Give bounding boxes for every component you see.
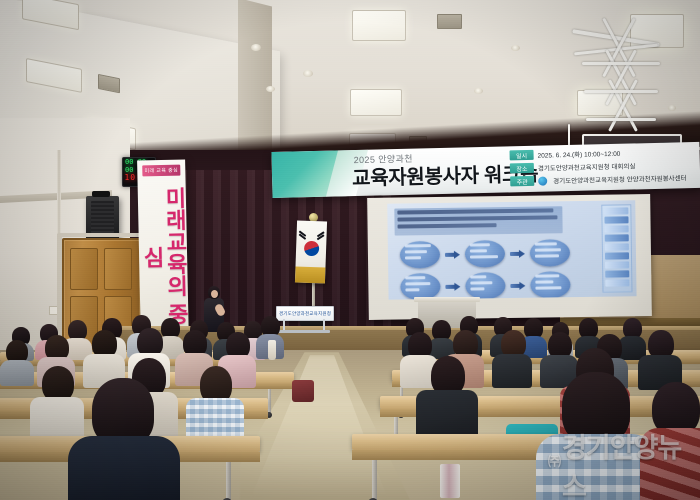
ceiling-downlight xyxy=(474,88,483,94)
ceiling-downlight xyxy=(303,70,313,77)
ceiling-downlight xyxy=(251,44,261,51)
slide-sidebar-cell xyxy=(604,207,628,214)
vertical-banner-text: 미래교육의 중심 xyxy=(137,179,188,335)
slide-arrow-icon xyxy=(445,285,455,289)
ceiling-vent xyxy=(437,14,462,29)
slide-flow-node xyxy=(465,240,505,268)
slide-heading-line xyxy=(397,215,557,221)
slide-sidebar-cell xyxy=(604,216,628,223)
audience-member xyxy=(68,378,180,500)
slide-flow-node xyxy=(400,273,440,300)
slide-flow-node xyxy=(400,241,440,269)
ceiling-light-panel xyxy=(350,89,402,116)
projection-screen xyxy=(367,194,652,320)
speaker-bracket xyxy=(92,191,110,197)
ceiling-light-panel xyxy=(26,58,82,93)
audience-member xyxy=(640,382,700,500)
ceiling-light-panel xyxy=(22,0,79,30)
slide-sidebar-cell xyxy=(605,279,629,286)
slide-sidebar-cell xyxy=(605,252,629,259)
handbag xyxy=(292,380,314,402)
slide-arrow-icon xyxy=(510,252,520,256)
ceiling-light-panel xyxy=(352,10,406,41)
podium-foot xyxy=(278,330,330,333)
south-korean-flag xyxy=(295,220,327,283)
ceiling-downlight xyxy=(511,45,520,51)
slide-sidebar-cell xyxy=(605,243,629,250)
slide-sidebar-list xyxy=(601,204,632,292)
banner-info-key: 일시 xyxy=(509,150,533,161)
tumbler xyxy=(268,340,276,360)
stage-side-table-top xyxy=(414,297,480,302)
slide-flow-node xyxy=(530,271,570,299)
banner-info-value: 경기도안양과천교육지원청 대회의실 xyxy=(538,160,636,172)
banner-info-block: 일시 2025. 6. 24.(화) 10:00~12:00 장소 경기도안양과… xyxy=(509,145,696,187)
drink-can xyxy=(440,464,460,498)
audience-member xyxy=(0,340,34,384)
audience-member xyxy=(536,372,656,500)
taeguk-icon xyxy=(304,241,320,257)
slide-sidebar-cell xyxy=(605,261,629,268)
banner-accent-graphic xyxy=(271,150,346,198)
slide-arrow-icon xyxy=(445,253,455,257)
slide-heading-line xyxy=(398,223,497,228)
podium-sign-text: 경기도안양과천교육지원청 xyxy=(279,311,331,317)
slide-content xyxy=(387,200,636,299)
slide-sidebar-cell xyxy=(605,234,629,241)
flag-fringe xyxy=(295,266,326,283)
slide-flow-node xyxy=(465,272,505,300)
auditorium-photo: 00 00 00 10:05 미래 교육 중심 미래교육의 중심 2025 안양… xyxy=(0,0,700,500)
slide-arrow-icon xyxy=(510,284,520,288)
slide-flow-node xyxy=(530,239,570,267)
podium-stand: 경기도안양과천교육지원청 xyxy=(276,306,332,332)
ceiling-downlight xyxy=(266,86,275,92)
vertical-banner-badge: 미래 교육 중심 xyxy=(142,165,180,177)
audience-member xyxy=(492,330,532,386)
banner-info-value: 경기도안양과천교육지원청 안양과천자원봉사센터 xyxy=(553,172,687,185)
slide-heading-box xyxy=(394,206,562,235)
ceiling-vent xyxy=(98,74,120,93)
organizer-logo-icon xyxy=(538,176,547,185)
banner-info-key: 주관 xyxy=(510,176,534,187)
banner-info-key: 장소 xyxy=(510,163,534,174)
slide-sidebar-cell xyxy=(605,225,629,232)
slide-heading-line xyxy=(397,208,553,214)
slide-sidebar-cell xyxy=(605,270,629,277)
banner-info-value: 2025. 6. 24.(화) 10:00~12:00 xyxy=(537,148,620,160)
presenter-face xyxy=(211,290,218,298)
